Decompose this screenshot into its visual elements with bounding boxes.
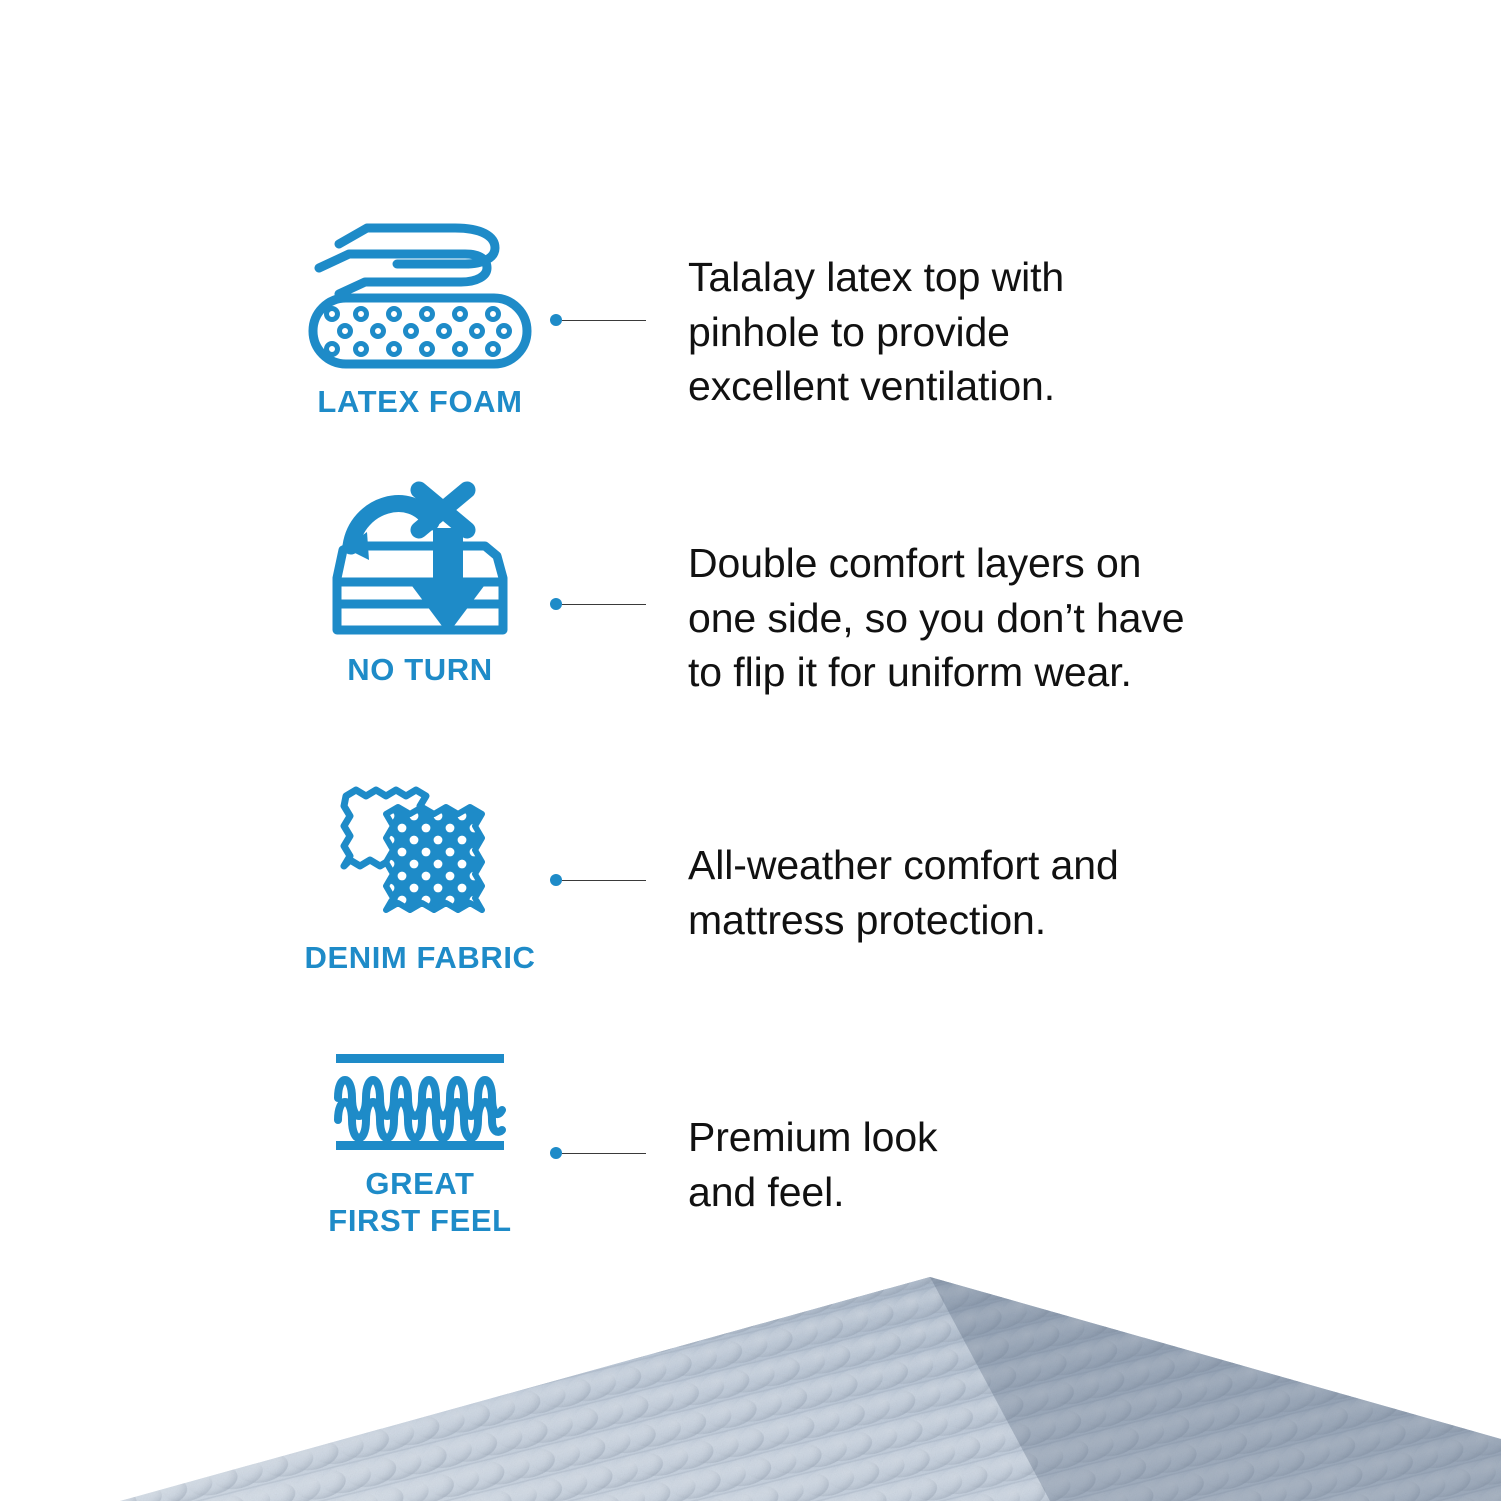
spring-bottom-bar <box>336 1141 504 1150</box>
connector-no-turn <box>550 598 646 610</box>
feature-icon-block-denim-fabric: DENIM FABRIC <box>255 786 585 977</box>
denim-swatch-front <box>386 807 482 910</box>
denim-fabric-icon <box>312 786 528 926</box>
connector-rule <box>562 604 646 605</box>
feature-label-denim-fabric: DENIM FABRIC <box>304 940 535 977</box>
connector-rule <box>562 320 646 321</box>
connector-dot <box>550 598 562 610</box>
latex-foam-slab <box>313 298 527 364</box>
mattress-surface-photo <box>0 1271 1501 1501</box>
connector-rule <box>562 1153 646 1154</box>
connector-dot <box>550 1147 562 1159</box>
great-first-feel-icon <box>332 1052 508 1152</box>
feature-label-no-turn: NO TURN <box>347 652 492 689</box>
connector-denim-fabric <box>550 874 646 886</box>
feature-label-great-first-feel: GREAT FIRST FEEL <box>328 1166 511 1239</box>
spring-top-bar <box>336 1054 504 1063</box>
feature-description-latex-foam: Talalay latex top with pinhole to provid… <box>688 250 1064 414</box>
infographic-page: LATEX FOAM Talalay latex top with pinhol… <box>0 0 1501 1501</box>
connector-rule <box>562 880 646 881</box>
no-turn-icon <box>315 478 525 638</box>
feature-icon-block-great-first-feel: GREAT FIRST FEEL <box>255 1052 585 1239</box>
feature-icon-block-no-turn: NO TURN <box>255 478 585 689</box>
feature-icon-block-latex-foam: LATEX FOAM <box>255 222 585 421</box>
connector-dot <box>550 314 562 326</box>
connector-great-first-feel <box>550 1147 646 1159</box>
feature-description-denim-fabric: All-weather comfort and mattress protect… <box>688 838 1119 947</box>
feature-description-great-first-feel: Premium look and feel. <box>688 1110 937 1219</box>
connector-latex-foam <box>550 314 646 326</box>
latex-foam-icon <box>305 222 535 370</box>
connector-dot <box>550 874 562 886</box>
feature-label-latex-foam: LATEX FOAM <box>317 384 522 421</box>
feature-description-no-turn: Double comfort layers on one side, so yo… <box>688 536 1185 700</box>
